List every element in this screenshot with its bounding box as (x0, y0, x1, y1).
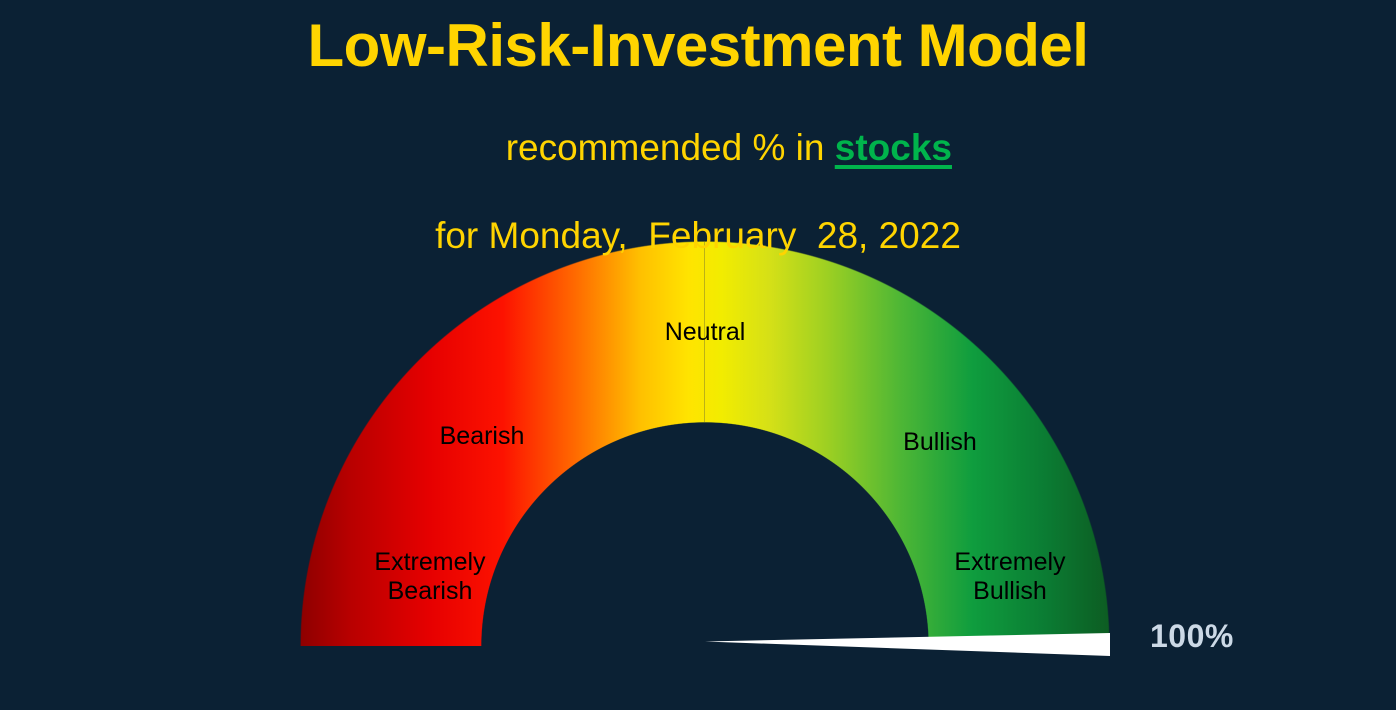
gauge-value-readout: 100% (1150, 618, 1234, 655)
gauge-label-neutral: Neutral (605, 318, 805, 347)
subtitle: recommended % in stocks (0, 92, 1396, 203)
date-line: for Monday, February 28, 2022 (0, 217, 1396, 254)
gauge: Neutral Bearish Bullish Extremely Bearis… (300, 240, 1110, 646)
subtitle-prefix: recommended % in (506, 127, 835, 168)
header: Low-Risk-Investment Model recommended % … (0, 0, 1396, 254)
gauge-label-bearish: Bearish (382, 422, 582, 451)
gauge-label-bullish: Bullish (840, 428, 1040, 457)
gauge-label-extremely-bullish: Extremely Bullish (890, 548, 1130, 606)
slide-canvas: Low-Risk-Investment Model recommended % … (0, 0, 1396, 710)
gauge-label-extremely-bearish: Extremely Bearish (310, 548, 550, 606)
page-title: Low-Risk-Investment Model (0, 0, 1396, 76)
subtitle-highlight-stocks: stocks (835, 127, 952, 168)
